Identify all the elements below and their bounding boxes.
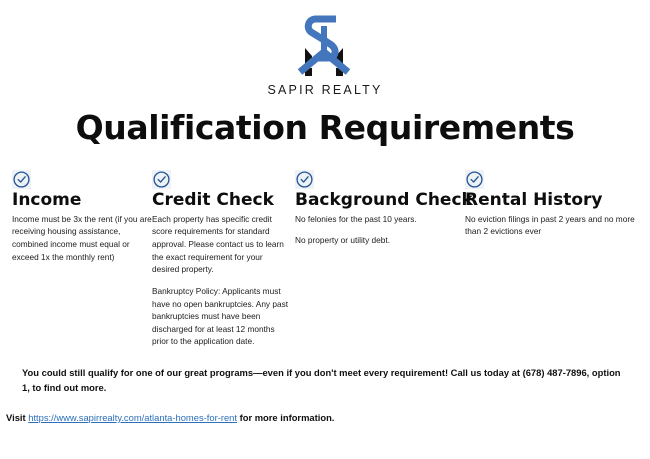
requirement-column-credit-check: Credit Check Each property has specific … xyxy=(152,170,290,348)
check-circle-icon xyxy=(152,170,171,189)
visit-suffix-label: for more information. xyxy=(237,412,334,423)
page-title: Qualification Requirements xyxy=(0,111,650,146)
column-paragraph: Each property has specific credit score … xyxy=(152,213,290,276)
brand-wordmark: SAPIR REALTY xyxy=(267,83,382,97)
column-title: Rental History xyxy=(465,192,645,210)
column-title: Background Check xyxy=(295,192,463,210)
brand-logo-block: SAPIR REALTY xyxy=(0,0,650,97)
requirement-column-income: Income Income must be 3x the rent (if yo… xyxy=(12,170,154,263)
sapir-realty-sr-monogram-icon xyxy=(280,12,370,82)
check-circle-icon xyxy=(12,170,31,189)
footer-call-to-action: You could still qualify for one of our g… xyxy=(22,365,622,395)
column-paragraph: No eviction filings in past 2 years and … xyxy=(465,213,645,238)
requirement-column-background-check: Background Check No felonies for the pas… xyxy=(295,170,463,247)
website-link[interactable]: https://www.sapirrealty.com/atlanta-home… xyxy=(28,412,237,423)
footer-visit-line: Visit https://www.sapirrealty.com/atlant… xyxy=(6,412,626,423)
visit-prefix-label: Visit xyxy=(6,412,28,423)
check-circle-icon xyxy=(295,170,314,189)
check-circle-icon xyxy=(465,170,484,189)
column-paragraph: No felonies for the past 10 years. xyxy=(295,213,463,226)
column-paragraph: Bankruptcy Policy: Applicants must have … xyxy=(152,285,290,348)
requirement-column-rental-history: Rental History No eviction filings in pa… xyxy=(465,170,645,238)
qualification-requirements-page: { "brand": { "logo_icon": "sapir-realty-… xyxy=(0,0,650,459)
column-title: Credit Check xyxy=(152,192,290,210)
column-title: Income xyxy=(12,192,154,210)
column-paragraph: No property or utility debt. xyxy=(295,234,463,247)
requirements-columns: Income Income must be 3x the rent (if yo… xyxy=(0,170,650,355)
column-paragraph: Income must be 3x the rent (if you are r… xyxy=(12,213,154,263)
